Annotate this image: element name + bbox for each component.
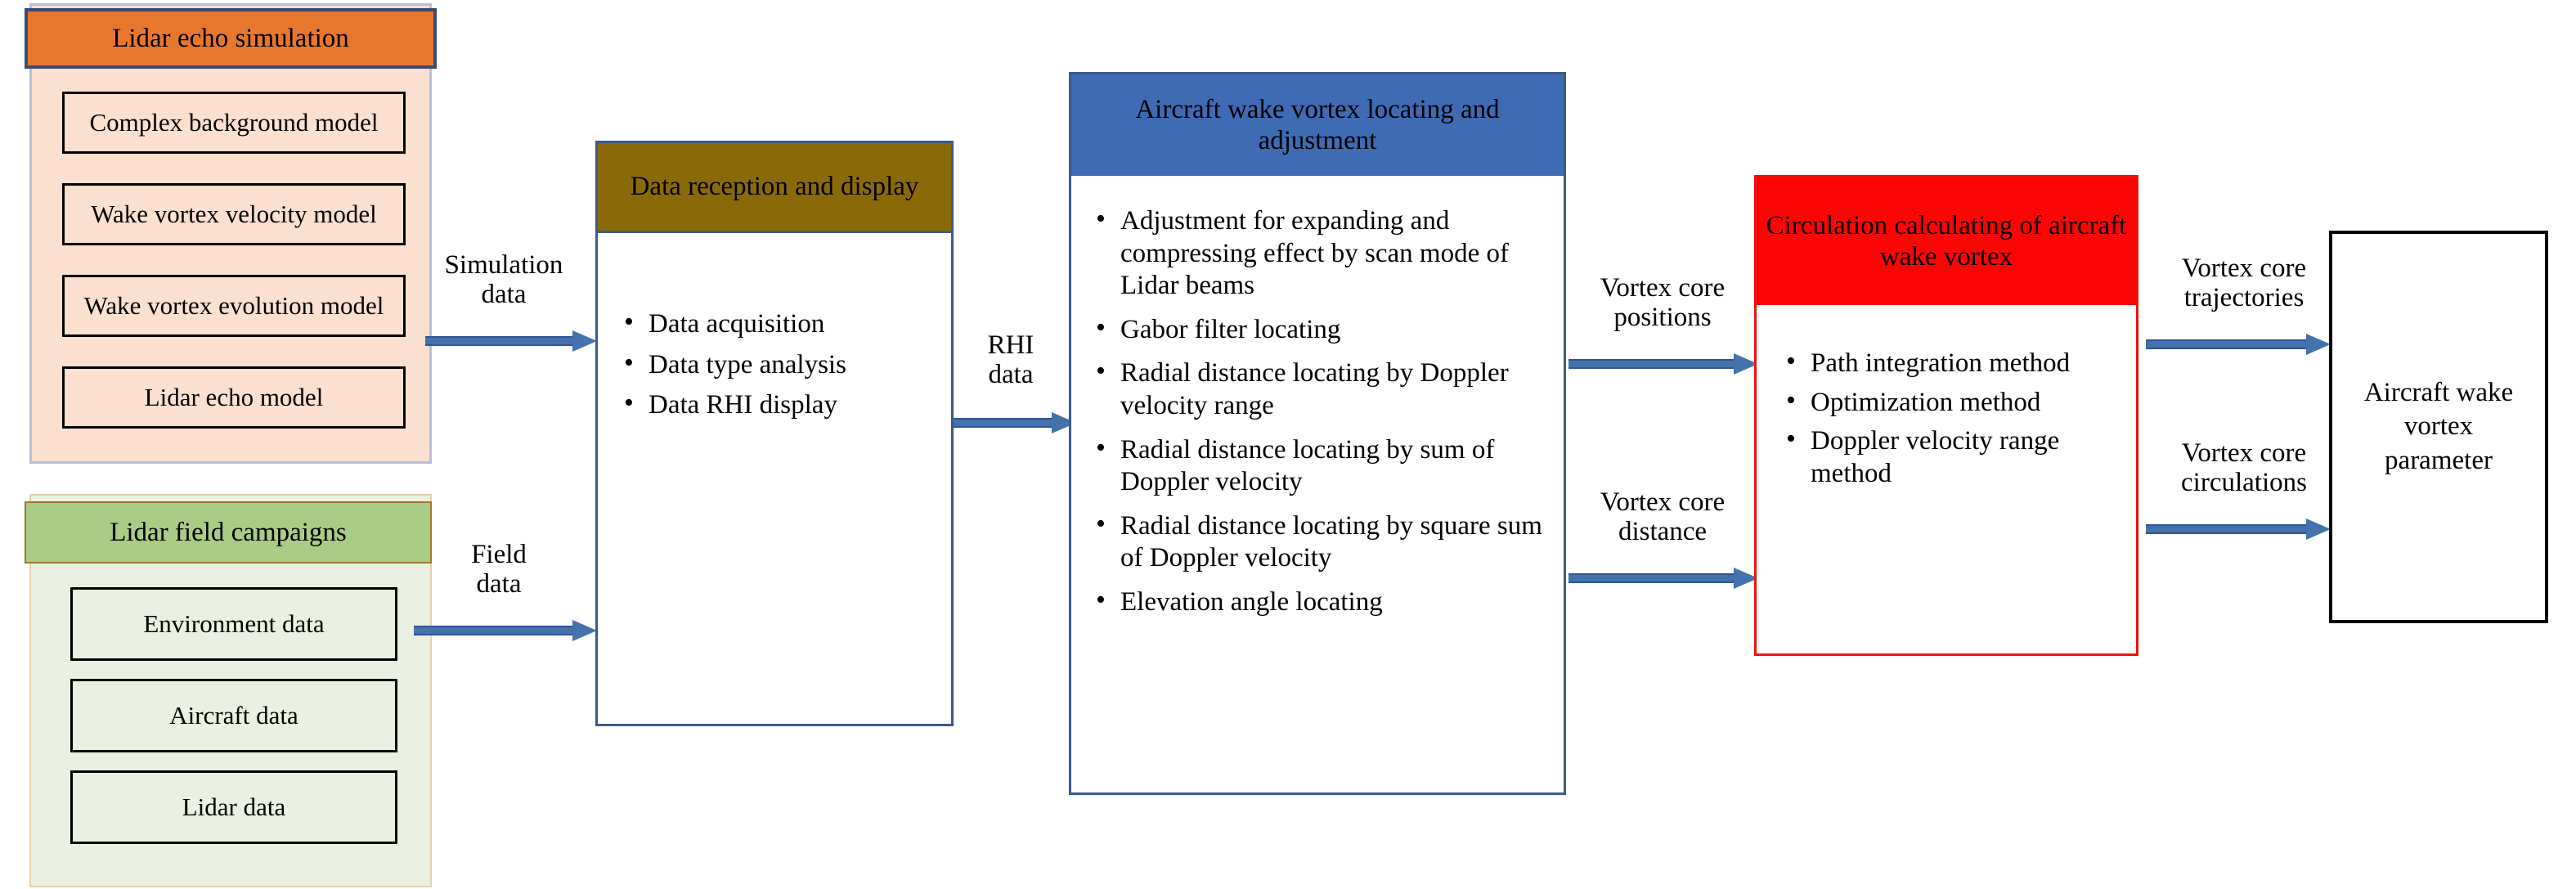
bullet-radial-distance-square-sum-doppler: Radial distance locating by square sum o… [1093, 510, 1547, 575]
sim-item-lidar-echo-model: Lidar echo model [62, 366, 406, 429]
edge-label-simulation-data: Simulation data [414, 250, 594, 310]
sim-item-complex-background-model: Complex background model [62, 92, 406, 154]
bullet-list-wake-vortex-locating: Adjustment for expanding and compressing… [1093, 205, 1547, 619]
box-aircraft-wake-vortex-parameter: Aircraft wake vortex parameter [2329, 231, 2548, 623]
panel-title-wake-vortex-locating: Aircraft wake vortex locating and adjust… [1071, 74, 1564, 176]
bullet-radial-distance-sum-doppler: Radial distance locating by sum of Doppl… [1093, 434, 1547, 499]
arrow-vortex-core-positions [1568, 353, 1758, 375]
arrow-field-data [414, 620, 597, 641]
bullet-elevation-angle-locating: Elevation angle locating [1093, 586, 1547, 619]
bullet-data-rhi-display: Data RHI display [621, 389, 936, 422]
edge-label-vortex-core-distance: Vortex core distance [1568, 487, 1757, 547]
bullet-gabor-filter-locating: Gabor filter locating [1093, 314, 1547, 347]
bullet-list-circulation-calculating: Path integration method Optimization met… [1783, 348, 2123, 490]
arrow-rhi-data [954, 412, 1076, 433]
bullet-list-data-reception: Data acquisition Data type analysis Data… [621, 308, 936, 422]
arrow-vortex-core-distance [1568, 568, 1758, 589]
diagram-canvas: Lidar echo simulation Complex background… [0, 0, 2576, 889]
panel-title-circulation-calculating: Circulation calculating of aircraft wake… [1757, 177, 2136, 305]
bullet-optimization-method: Optimization method [1783, 387, 2123, 420]
bullet-data-type-analysis: Data type analysis [621, 349, 936, 382]
bullet-doppler-velocity-range-method: Doppler velocity range method [1783, 425, 2123, 490]
edge-label-field-data: Field data [425, 540, 572, 599]
panel-title-data-reception: Data reception and display [598, 143, 951, 233]
bullet-adjustment-expanding-compressing: Adjustment for expanding and compressing… [1093, 205, 1547, 303]
panel-data-reception-and-display: Data reception and display Data acquisit… [595, 141, 954, 726]
arrow-vortex-core-circulations [2146, 519, 2331, 540]
bullet-radial-distance-doppler-range: Radial distance locating by Doppler velo… [1093, 357, 1547, 422]
group-header-lidar-field-campaigns: Lidar field campaigns [25, 501, 432, 563]
field-item-environment-data: Environment data [70, 587, 397, 661]
sim-item-wake-vortex-velocity-model: Wake vortex velocity model [62, 183, 406, 245]
group-header-lidar-echo-simulation: Lidar echo simulation [25, 8, 437, 69]
arrow-vortex-core-trajectories [2146, 334, 2331, 355]
edge-label-rhi-data: RHI data [954, 330, 1068, 390]
edge-label-vortex-core-trajectories: Vortex core trajectories [2146, 254, 2342, 313]
bullet-data-acquisition: Data acquisition [621, 308, 936, 341]
edge-label-vortex-core-positions: Vortex core positions [1568, 273, 1757, 333]
sim-item-wake-vortex-evolution-model: Wake vortex evolution model [62, 275, 406, 337]
panel-wake-vortex-locating: Aircraft wake vortex locating and adjust… [1069, 72, 1566, 795]
bullet-path-integration-method: Path integration method [1783, 348, 2123, 380]
field-item-lidar-data: Lidar data [70, 770, 397, 844]
panel-circulation-calculating: Circulation calculating of aircraft wake… [1754, 175, 2138, 656]
edge-label-vortex-core-circulations: Vortex core circulations [2146, 438, 2342, 498]
arrow-simulation-data [425, 330, 597, 352]
field-item-aircraft-data: Aircraft data [70, 679, 397, 752]
